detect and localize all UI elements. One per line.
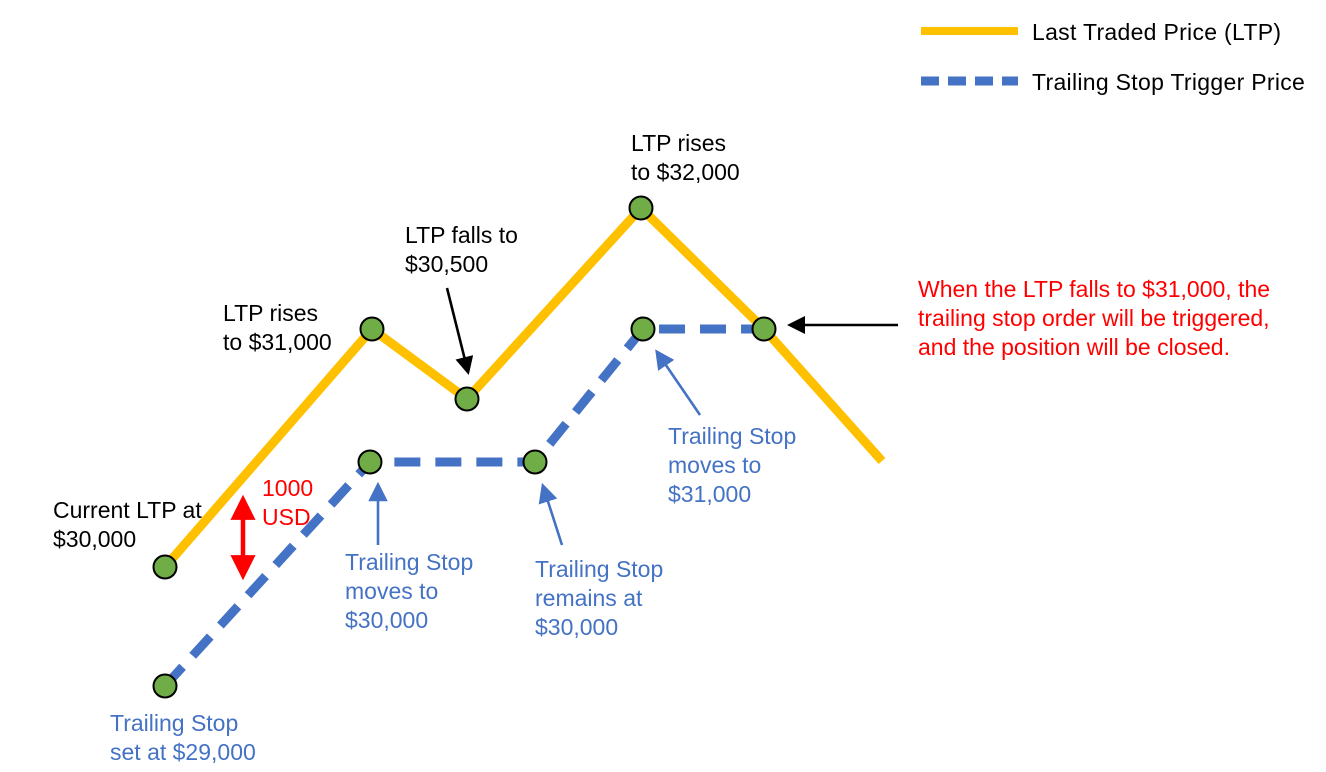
ltp-marker-30000	[154, 556, 177, 579]
stop-marker-30000-a	[359, 451, 382, 474]
ltp-marker-31000	[361, 318, 384, 341]
annotation-ltp-rises-32000: LTP rises to $32,000	[631, 129, 740, 187]
annotation-stop-moves-30000: Trailing Stop moves to $30,000	[345, 548, 473, 635]
legend-label-ltp: Last Traded Price (LTP)	[1032, 18, 1281, 47]
annotation-stop-remains-30000: Trailing Stop remains at $30,000	[535, 555, 663, 642]
annotation-ltp-rises-31000: LTP rises to $31,000	[223, 299, 332, 357]
callout-arrow-stop-remains-30000	[543, 486, 562, 545]
ltp-marker-32000	[630, 197, 653, 220]
annotation-trigger-note: When the LTP falls to $31,000, the trail…	[918, 275, 1270, 362]
diagram-canvas: Last Traded Price (LTP) Trailing Stop Tr…	[0, 0, 1326, 772]
annotation-gap-1000-usd: 1000 USD	[262, 474, 313, 532]
ltp-marker-30500	[456, 388, 479, 411]
stop-marker-30000-b	[524, 451, 547, 474]
trigger-marker-31000	[753, 318, 776, 341]
annotation-ltp-falls-30500: LTP falls to $30,500	[405, 221, 518, 279]
annotation-stop-moves-31000: Trailing Stop moves to $31,000	[668, 422, 796, 509]
annotation-current-ltp: Current LTP at $30,000	[53, 496, 202, 554]
trailing-stop-chart	[0, 0, 1326, 772]
legend-label-trailing-stop: Trailing Stop Trigger Price	[1032, 68, 1305, 97]
annotation-stop-set-29000: Trailing Stop set at $29,000	[110, 709, 256, 767]
stop-marker-31000	[632, 318, 655, 341]
callout-arrow-stop-moves-31000	[657, 352, 700, 415]
stop-marker-29000	[154, 675, 177, 698]
callout-arrow-ltp-falls	[447, 288, 468, 372]
